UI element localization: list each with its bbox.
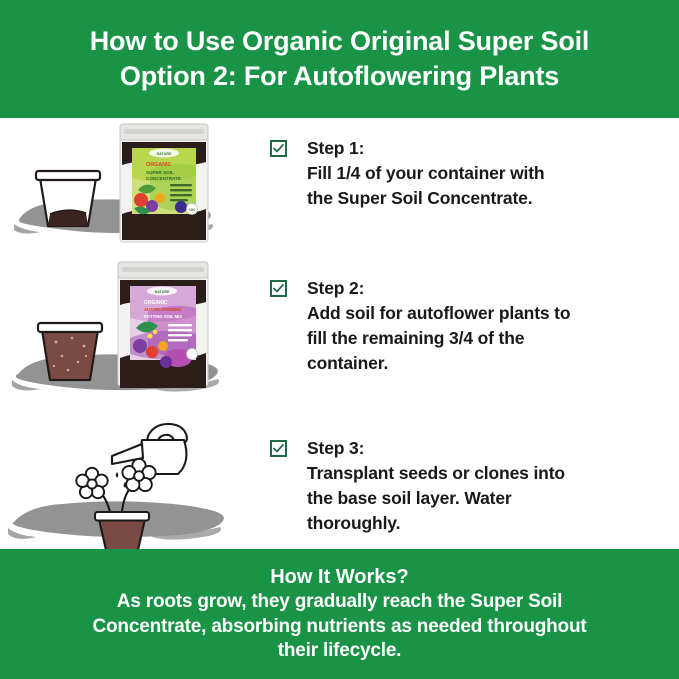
step-1-copy: Step 1: Fill 1/4 of your container with … [258, 118, 679, 211]
svg-text:NATURE: NATURE [155, 290, 170, 294]
header-banner: How to Use Organic Original Super Soil O… [0, 0, 679, 118]
flower-left-icon [76, 468, 107, 498]
step-1-illustration: NATURE ORGANIC SUPER SOIL CONCENTRATE [0, 118, 258, 258]
svg-text:CONCENTRATE: CONCENTRATE [146, 176, 181, 181]
autoflowering-potting-soil-bag-icon: NATURE ORGANIC AUTOFLOWERING POTTING SOI… [118, 262, 208, 388]
step-3-illustration [0, 418, 258, 549]
step-row-1: NATURE ORGANIC SUPER SOIL CONCENTRATE [0, 118, 679, 258]
header-title-line-1: How to Use Organic Original Super Soil [90, 24, 589, 59]
step-1-artwork: NATURE ORGANIC SUPER SOIL CONCENTRATE [0, 118, 258, 258]
step-2-body-line-3: container. [307, 351, 570, 376]
svg-text:ORGANIC: ORGANIC [144, 300, 168, 306]
super-soil-concentrate-bag-icon: NATURE ORGANIC SUPER SOIL CONCENTRATE [120, 124, 208, 242]
step-3-artwork [0, 418, 258, 549]
footer-body-line-3: their lifecycle. [278, 639, 402, 664]
step-1-body-line-2: the Super Soil Concentrate. [307, 186, 544, 211]
step-3-text: Step 3: Transplant seeds or clones into … [307, 436, 565, 535]
step-3-copy: Step 3: Transplant seeds or clones into … [258, 418, 679, 535]
empty-pot-icon [36, 171, 100, 226]
step-1-text: Step 1: Fill 1/4 of your container with … [307, 136, 544, 211]
svg-text:ORGANIC: ORGANIC [146, 162, 172, 168]
step-3-body-line-3: thoroughly. [307, 511, 565, 536]
step-1-title: Step 1: [307, 136, 544, 161]
footer-banner: How It Works? As roots grow, they gradua… [0, 549, 679, 679]
step-2-body-line-2: fill the remaining 3/4 of the [307, 326, 570, 351]
checkbox-checked-icon[interactable] [270, 140, 287, 157]
step-2-artwork: NATURE ORGANIC AUTOFLOWERING POTTING SOI… [0, 258, 258, 418]
step-row-2: NATURE ORGANIC AUTOFLOWERING POTTING SOI… [0, 258, 679, 418]
filled-pot-icon [38, 323, 102, 380]
step-3-body-line-2: the base soil layer. Water [307, 486, 565, 511]
infographic-page: How to Use Organic Original Super Soil O… [0, 0, 679, 679]
step-2-copy: Step 2: Add soil for autoflower plants t… [258, 258, 679, 375]
svg-text:SUPER SOIL: SUPER SOIL [146, 170, 174, 175]
footer-body-line-1: As roots grow, they gradually reach the … [117, 590, 562, 615]
footer-body-line-2: Concentrate, absorbing nutrients as need… [93, 615, 587, 640]
step-2-text: Step 2: Add soil for autoflower plants t… [307, 276, 570, 375]
svg-text:OK: OK [189, 207, 195, 212]
step-2-illustration: NATURE ORGANIC AUTOFLOWERING POTTING SOI… [0, 258, 258, 418]
step-3-title: Step 3: [307, 436, 565, 461]
step-3-body-line-1: Transplant seeds or clones into [307, 461, 565, 486]
svg-text:POTTING SOIL MIX: POTTING SOIL MIX [144, 314, 182, 319]
step-row-3: Step 3: Transplant seeds or clones into … [0, 418, 679, 549]
header-title-line-2: Option 2: For Autoflowering Plants [120, 59, 559, 94]
svg-text:NATURE: NATURE [157, 152, 172, 156]
footer-title: How It Works? [270, 564, 409, 590]
svg-text:AUTOFLOWERING: AUTOFLOWERING [144, 307, 181, 312]
steps-section: NATURE ORGANIC SUPER SOIL CONCENTRATE [0, 118, 679, 549]
step-2-body-line-1: Add soil for autoflower plants to [307, 301, 570, 326]
step-1-body-line-1: Fill 1/4 of your container with [307, 161, 544, 186]
checkbox-checked-icon[interactable] [270, 280, 287, 297]
checkbox-checked-icon[interactable] [270, 440, 287, 457]
step-2-title: Step 2: [307, 276, 570, 301]
